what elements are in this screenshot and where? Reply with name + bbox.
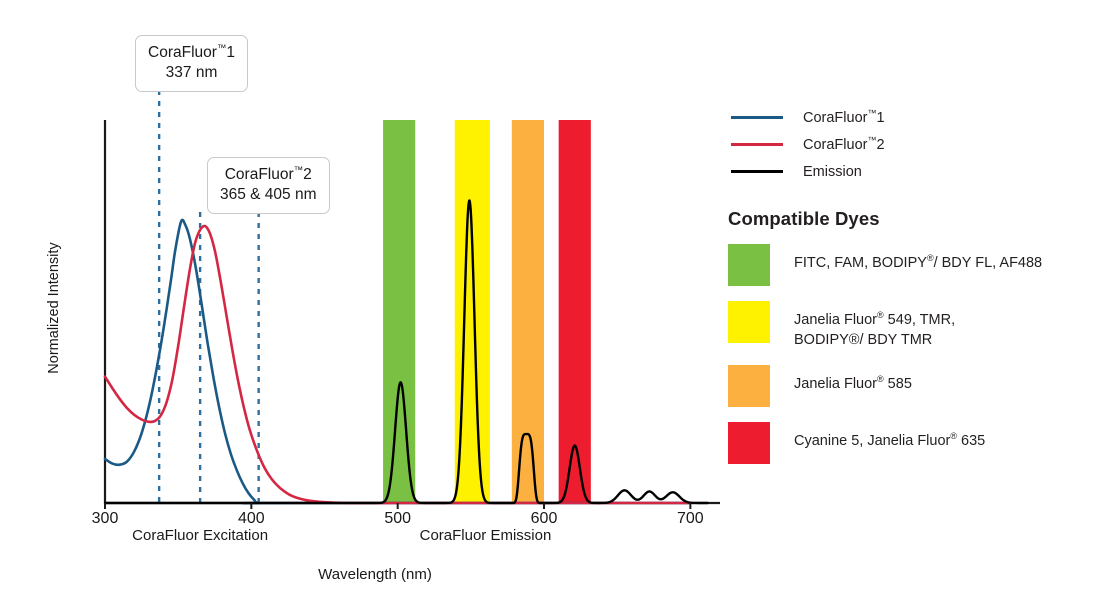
excitation-region-label: CoraFluor Excitation <box>70 527 330 544</box>
dye-label-green-dye: FITC, FAM, BODIPY®/ BDY FL, AF488 <box>794 244 1042 274</box>
callout-cf2-line1: CoraFluor™2 <box>220 165 317 185</box>
dye-swatch-yellow-dye <box>728 301 770 343</box>
registered-symbol: ® <box>877 310 884 320</box>
legend-label-text: Emission <box>803 164 862 180</box>
legend-series-list: CoraFluor™1CoraFluor™2Emission <box>728 104 1110 185</box>
dye-label-text: Janelia Fluor <box>794 312 877 328</box>
x-axis-label-600: 600 <box>514 510 574 528</box>
dye-label-text-cont: 549, TMR, <box>884 312 955 328</box>
legend-label-emission: Emission <box>803 164 862 180</box>
x-axis-title: Wavelength (nm) <box>275 566 475 583</box>
dye-label-text: FITC, FAM, BODIPY <box>794 255 927 271</box>
callout-cf1-line2: 337 nm <box>148 63 235 83</box>
registered-symbol: ® <box>927 253 934 263</box>
legend-label-text: CoraFluor <box>803 137 867 153</box>
dye-label-line2: BODIPY®/ BDY TMR <box>794 331 955 351</box>
legend-label-number: 2 <box>876 137 884 153</box>
chart-page: CoraFluor™1 337 nm CoraFluor™2 365 & 405… <box>0 0 1110 612</box>
dye-item-red-dye[interactable]: Cyanine 5, Janelia Fluor® 635 <box>728 422 1110 464</box>
callout-corafluor-2: CoraFluor™2 365 & 405 nm <box>207 157 330 214</box>
legend-line-swatch-corafluor-2 <box>731 143 783 146</box>
compatible-dyes-list: FITC, FAM, BODIPY®/ BDY FL, AF488Janelia… <box>728 244 1110 464</box>
callout-corafluor-1: CoraFluor™1 337 nm <box>135 35 248 92</box>
legend-label-number: 1 <box>876 110 884 126</box>
dye-label-orange-dye: Janelia Fluor® 585 <box>794 365 912 395</box>
legend-label-corafluor-1: CoraFluor™1 <box>803 110 885 126</box>
emission-region-label: CoraFluor Emission <box>355 527 615 544</box>
compatible-dyes-heading: Compatible Dyes <box>728 208 1110 230</box>
legend-item-corafluor-2[interactable]: CoraFluor™2 <box>728 131 1110 158</box>
legend-item-emission[interactable]: Emission <box>728 158 1110 185</box>
legend-label-text: CoraFluor <box>803 110 867 126</box>
legend-line-swatch-emission <box>731 170 783 173</box>
dye-label-text: Janelia Fluor <box>794 376 877 392</box>
dye-swatch-red-dye <box>728 422 770 464</box>
legend-line-swatch-corafluor-1 <box>731 116 783 119</box>
orange-band <box>512 120 544 503</box>
dye-label-red-dye: Cyanine 5, Janelia Fluor® 635 <box>794 422 985 452</box>
legend-item-corafluor-1[interactable]: CoraFluor™1 <box>728 104 1110 131</box>
x-axis-label-400: 400 <box>221 510 281 528</box>
dye-item-green-dye[interactable]: FITC, FAM, BODIPY®/ BDY FL, AF488 <box>728 244 1110 286</box>
x-axis-label-300: 300 <box>75 510 135 528</box>
trademark-symbol: ™ <box>294 165 304 176</box>
dye-label-text-cont: 585 <box>884 376 912 392</box>
dye-label-text-cont: / BDY FL, AF488 <box>934 255 1043 271</box>
trademark-symbol: ™ <box>217 43 227 54</box>
dye-item-orange-dye[interactable]: Janelia Fluor® 585 <box>728 365 1110 407</box>
registered-symbol: ® <box>877 374 884 384</box>
dye-label-text: Cyanine 5, Janelia Fluor <box>794 433 950 449</box>
green-band <box>383 120 415 503</box>
y-axis-title: Normalized Intensity <box>46 218 62 398</box>
dye-label-text-cont: 635 <box>957 433 985 449</box>
x-axis-label-700: 700 <box>660 510 720 528</box>
chart-legend: CoraFluor™1CoraFluor™2Emission Compatibl… <box>728 104 1110 479</box>
legend-label-corafluor-2: CoraFluor™2 <box>803 137 885 153</box>
dye-swatch-green-dye <box>728 244 770 286</box>
dye-label-yellow-dye: Janelia Fluor® 549, TMR,BODIPY®/ BDY TMR <box>794 301 955 350</box>
dye-swatch-orange-dye <box>728 365 770 407</box>
callout-cf2-line2: 365 & 405 nm <box>220 185 317 205</box>
callout-cf1-line1: CoraFluor™1 <box>148 43 235 63</box>
x-axis-label-500: 500 <box>368 510 428 528</box>
dye-item-yellow-dye[interactable]: Janelia Fluor® 549, TMR,BODIPY®/ BDY TMR <box>728 301 1110 350</box>
spectra-chart: CoraFluor™1 337 nm CoraFluor™2 365 & 405… <box>0 0 730 612</box>
